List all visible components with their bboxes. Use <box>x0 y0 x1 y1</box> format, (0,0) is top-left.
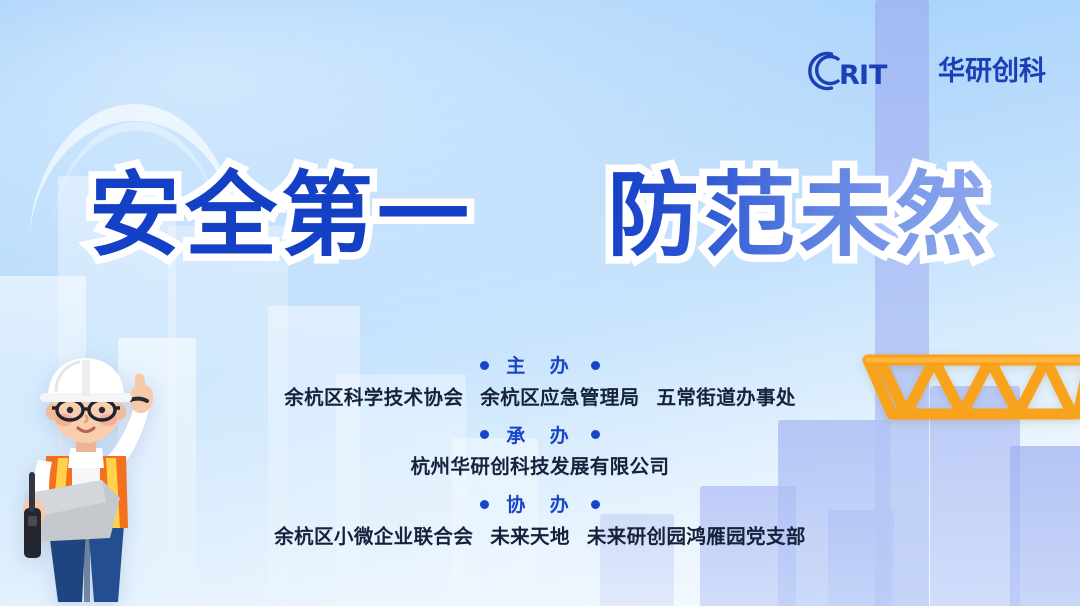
bullet-dot-icon <box>591 430 600 439</box>
organization-name: 余杭区小微企业联合会 <box>274 525 473 548</box>
bullet-dot-icon <box>591 500 600 509</box>
poster-headline: 安全第一安全第一 防范未然防范未然 <box>0 166 1080 265</box>
poster-canvas: 安全第一安全第一 防范未然防范未然 主 办 余杭区科学技术协会余杭区应急管理局五… <box>0 0 1080 606</box>
svg-text:T: T <box>869 60 888 91</box>
credit-role-label: 协 办 <box>502 494 578 516</box>
headline-part-one-text: 安全第一 <box>89 162 473 269</box>
organization-name: 未来天地 <box>490 525 570 548</box>
safety-engineer-character <box>2 352 178 606</box>
headline-part-two: 防范未然防范未然 <box>607 166 991 265</box>
svg-text:I: I <box>859 60 870 91</box>
grit-mark-icon: R I T <box>807 48 935 94</box>
organization-name: 余杭区科学技术协会 <box>284 386 463 409</box>
headline-part-one: 安全第一安全第一 <box>89 166 473 265</box>
bullet-dot-icon <box>480 361 489 370</box>
credit-role-label: 主 办 <box>502 355 578 377</box>
organization-name: 未来研创园鸿雁园党支部 <box>587 525 806 548</box>
bullet-dot-icon <box>480 500 489 509</box>
headline-part-two-text: 防范未然 <box>607 162 991 269</box>
organization-name: 余杭区应急管理局 <box>480 386 639 409</box>
svg-text:R: R <box>839 60 860 91</box>
organization-name: 杭州华研创科技发展有限公司 <box>411 455 670 478</box>
credit-role-label: 承 办 <box>502 425 578 447</box>
bullet-dot-icon <box>480 430 489 439</box>
brand-wordmark: 华研创科 <box>938 58 1046 85</box>
brand-logo: R I T 华研创科 <box>807 48 1046 94</box>
organization-name: 五常街道办事处 <box>657 386 796 409</box>
bullet-dot-icon <box>591 361 600 370</box>
